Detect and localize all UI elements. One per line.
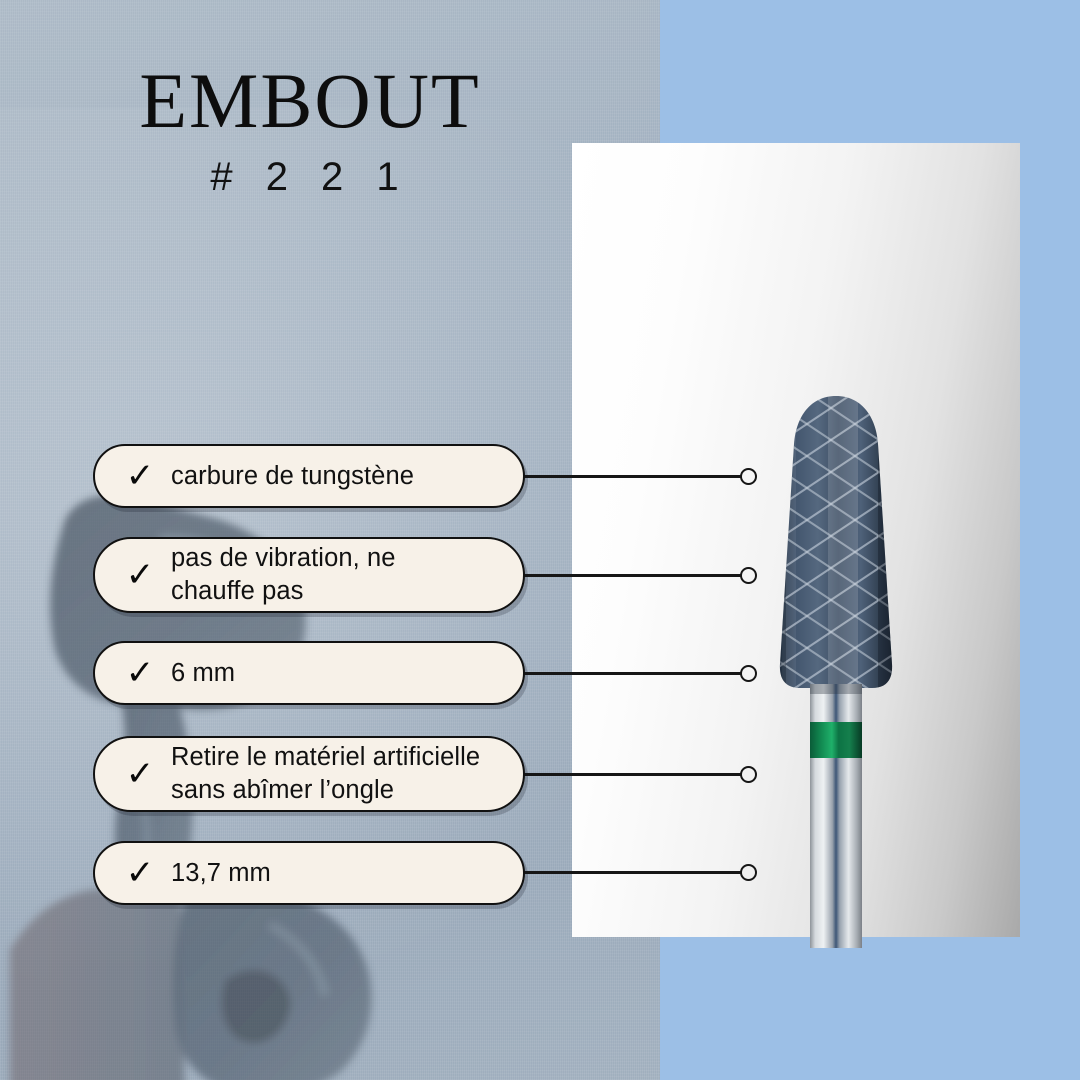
connector-dot-2 xyxy=(740,567,757,584)
connector-dot-1 xyxy=(740,468,757,485)
check-icon: ✓ xyxy=(117,656,163,690)
feature-label: carbure de tungstène xyxy=(163,460,513,493)
feature-label: 6 mm xyxy=(163,657,513,690)
feature-pill-5[interactable]: ✓ 13,7 mm xyxy=(93,841,525,905)
poster-canvas: EMBOUT # 2 2 1 ✓ carbure de tungstène ✓ … xyxy=(0,0,1080,1080)
connector-line-2 xyxy=(520,574,742,577)
connector-dot-5 xyxy=(740,864,757,881)
check-icon: ✓ xyxy=(117,459,163,493)
connector-line-4 xyxy=(520,773,742,776)
connector-dot-4 xyxy=(740,766,757,783)
feature-label: 13,7 mm xyxy=(163,857,513,890)
connector-line-3 xyxy=(520,672,742,675)
check-icon: ✓ xyxy=(117,757,163,791)
page-title: EMBOUT xyxy=(0,62,620,140)
feature-label: Retire le matériel artificielle sans abî… xyxy=(163,741,513,806)
feature-pill-1[interactable]: ✓ carbure de tungstène xyxy=(93,444,525,508)
connector-line-1 xyxy=(520,475,742,478)
feature-pill-3[interactable]: ✓ 6 mm xyxy=(93,641,525,705)
check-icon: ✓ xyxy=(117,856,163,890)
page-subtitle: # 2 2 1 xyxy=(0,155,620,200)
check-icon: ✓ xyxy=(117,558,163,592)
feature-pill-2[interactable]: ✓ pas de vibration, ne chauffe pas xyxy=(93,537,525,613)
connector-line-5 xyxy=(520,871,742,874)
feature-label: pas de vibration, ne chauffe pas xyxy=(163,542,513,607)
product-photo-panel xyxy=(572,143,1020,937)
connector-dot-3 xyxy=(740,665,757,682)
feature-pill-4[interactable]: ✓ Retire le matériel artificielle sans a… xyxy=(93,736,525,812)
